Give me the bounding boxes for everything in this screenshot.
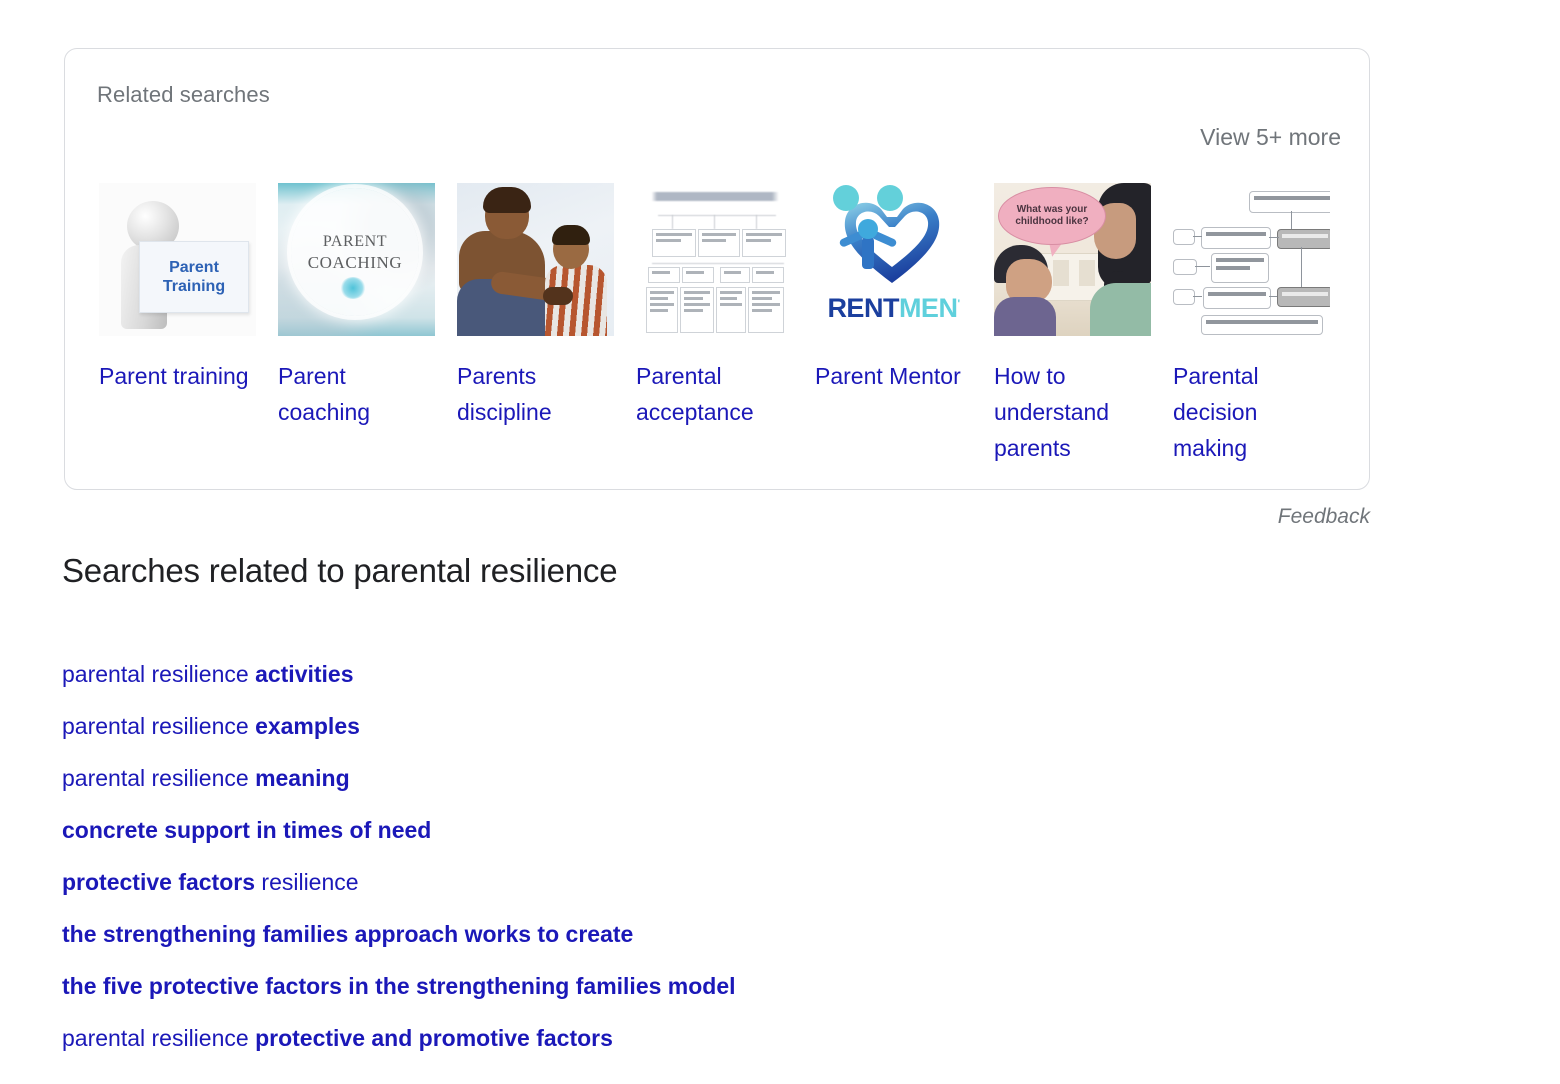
query-plain: parental resilience: [62, 713, 255, 739]
query-bold: the five protective factors in the stren…: [62, 973, 736, 999]
related-searches-list: parental resilience activities parental …: [62, 648, 1262, 1064]
related-tile-label: Parent Mentor: [815, 358, 972, 394]
related-tile-label: Parent coaching: [278, 358, 435, 430]
related-tile-parent-mentor[interactable]: RENTMEN' Parent Mentor: [815, 183, 972, 394]
query-bold: protective factors: [62, 869, 255, 895]
logo-wordmark-primary: RENT: [827, 293, 899, 323]
query-plain: parental resilience: [62, 661, 255, 687]
related-tile-label: How to understand parents: [994, 358, 1151, 466]
related-searches-title: Related searches: [97, 82, 270, 108]
parent-mentor-logo-icon: RENTMEN': [815, 183, 972, 336]
related-tile-label: Parental decision making: [1173, 358, 1330, 466]
parental-acceptance-thumbnail-icon: [636, 183, 793, 336]
speech-bubble-text: What was your childhood like?: [1005, 204, 1099, 228]
list-item[interactable]: parental resilience protective and promo…: [62, 1012, 1262, 1064]
page-title: Searches related to parental resilience: [62, 552, 617, 590]
related-tiles-row: Parent Training Parent training PARENT C…: [99, 183, 1369, 466]
related-tile-parental-acceptance[interactable]: Parental acceptance: [636, 183, 793, 430]
query-bold: activities: [255, 661, 353, 687]
feedback-link[interactable]: Feedback: [1278, 505, 1370, 529]
list-item[interactable]: the strengthening families approach work…: [62, 908, 1262, 960]
understand-parents-thumbnail-icon: What was your childhood like?: [994, 183, 1151, 336]
query-bold: meaning: [255, 765, 350, 791]
related-tile-label: Parent training: [99, 358, 256, 394]
related-tiles-strip[interactable]: Parent Training Parent training PARENT C…: [99, 183, 1369, 473]
parents-discipline-thumbnail-icon: [457, 183, 614, 336]
query-bold: the strengthening families approach work…: [62, 921, 633, 947]
query-tail: resilience: [255, 869, 359, 895]
query-plain: parental resilience: [62, 1025, 255, 1051]
related-tile-parent-coaching[interactable]: PARENT COACHING Parent coaching: [278, 183, 435, 430]
query-bold: examples: [255, 713, 360, 739]
related-tile-label: Parents discipline: [457, 358, 614, 430]
thumb-text-line1: PARENT: [323, 231, 387, 252]
view-more-button[interactable]: View 5+ more: [1200, 124, 1341, 151]
related-tile-label: Parental acceptance: [636, 358, 793, 430]
related-tile-parental-decision-making[interactable]: Parental decision making: [1173, 183, 1330, 466]
thumb-text-line1: Parent: [169, 258, 219, 277]
list-item[interactable]: parental resilience activities: [62, 648, 1262, 700]
thumb-text-line2: Training: [163, 277, 225, 296]
related-tile-how-to-understand-parents[interactable]: What was your childhood like? How to und…: [994, 183, 1151, 466]
list-item[interactable]: concrete support in times of need: [62, 804, 1262, 856]
list-item[interactable]: parental resilience meaning: [62, 752, 1262, 804]
related-tile-parent-training[interactable]: Parent Training Parent training: [99, 183, 256, 394]
logo-wordmark-secondary: MEN: [899, 293, 958, 323]
query-plain: parental resilience: [62, 765, 255, 791]
thumb-text-line2: COACHING: [308, 252, 403, 273]
query-bold: protective and promotive factors: [255, 1025, 613, 1051]
parent-training-thumbnail-icon: Parent Training: [99, 183, 256, 336]
parent-coaching-thumbnail-icon: PARENT COACHING: [278, 183, 435, 336]
list-item[interactable]: parental resilience examples: [62, 700, 1262, 752]
related-tile-parents-discipline[interactable]: Parents discipline: [457, 183, 614, 430]
query-bold: concrete support in times of need: [62, 817, 431, 843]
list-item[interactable]: protective factors resilience: [62, 856, 1262, 908]
related-searches-card: Related searches View 5+ more Parent Tra…: [64, 48, 1370, 490]
parental-decision-making-thumbnail-icon: [1173, 183, 1330, 336]
list-item[interactable]: the five protective factors in the stren…: [62, 960, 1262, 1012]
logo-trademark-mark: ': [957, 298, 959, 310]
